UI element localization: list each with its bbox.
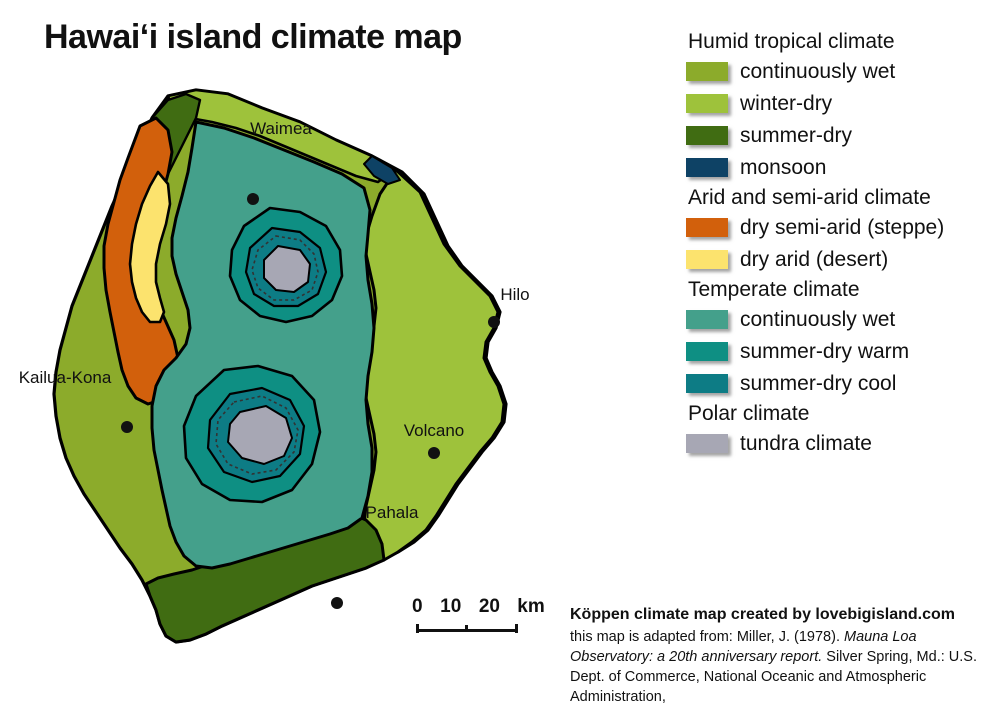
legend-swatch-dry-semi-arid-steppe [686, 218, 728, 237]
scale-unit: km [517, 596, 544, 618]
legend-item-humid-summer-dry[interactable]: summer-dry [686, 120, 996, 151]
legend-label-dry-arid-desert: dry arid (desert) [740, 249, 888, 271]
scale-bar-labels: 0 10 20 km [412, 596, 545, 618]
scale-bar: 0 10 20 km [412, 596, 557, 644]
legend-swatch-temperate-continuously-wet [686, 310, 728, 329]
legend-swatch-polar-tundra [686, 434, 728, 453]
legend-group-title-arid: Arid and semi-arid climate [688, 184, 996, 211]
zone-polar-tundra-mauna-kea [264, 246, 310, 292]
scale-tick-20: 20 [479, 596, 500, 618]
scale-bar-tick-end [515, 624, 518, 633]
attribution-title: Köppen climate map created by lovebigisl… [570, 604, 995, 625]
city-label-waimea: Waimea [250, 119, 312, 138]
island-map-svg: Waimea Hilo Kailua-Kona Volcano Pahala [0, 60, 620, 680]
legend: Humid tropical climate continuously wet … [686, 28, 996, 460]
legend-item-temperate-summer-dry-cool[interactable]: summer-dry cool [686, 368, 996, 399]
legend-swatch-humid-monsoon [686, 158, 728, 177]
legend-label-temperate-summer-dry-warm: summer-dry warm [740, 341, 909, 363]
legend-group-title-polar: Polar climate [688, 400, 996, 427]
city-dot-volcano [428, 447, 440, 459]
legend-item-humid-monsoon[interactable]: monsoon [686, 152, 996, 183]
scale-tick-10: 10 [440, 596, 461, 618]
legend-swatch-humid-winter-dry [686, 94, 728, 113]
legend-item-humid-continuously-wet[interactable]: continuously wet [686, 56, 996, 87]
legend-item-polar-tundra[interactable]: tundra climate [686, 428, 996, 459]
legend-swatch-humid-continuously-wet [686, 62, 728, 81]
legend-swatch-dry-arid-desert [686, 250, 728, 269]
city-label-pahala: Pahala [366, 503, 419, 522]
legend-label-humid-summer-dry: summer-dry [740, 125, 852, 147]
legend-item-humid-winter-dry[interactable]: winter-dry [686, 88, 996, 119]
legend-label-humid-monsoon: monsoon [740, 157, 826, 179]
legend-swatch-humid-summer-dry [686, 126, 728, 145]
city-label-hilo: Hilo [500, 285, 529, 304]
zone-humid-winter-dry-east [364, 170, 504, 560]
city-dot-kailua-kona [121, 421, 133, 433]
legend-label-humid-continuously-wet: continuously wet [740, 61, 895, 83]
scale-bar-tick-start [416, 624, 419, 633]
scale-tick-0: 0 [412, 596, 423, 618]
legend-label-temperate-summer-dry-cool: summer-dry cool [740, 373, 896, 395]
attribution-source-plain-1: this map is adapted from: Miller, J. (19… [570, 629, 844, 645]
scale-bar-ruler [416, 624, 518, 634]
city-dot-hilo [488, 316, 500, 328]
legend-label-dry-semi-arid-steppe: dry semi-arid (steppe) [740, 217, 944, 239]
legend-label-polar-tundra: tundra climate [740, 433, 872, 455]
legend-item-dry-semi-arid-steppe[interactable]: dry semi-arid (steppe) [686, 212, 996, 243]
legend-group-title-temperate: Temperate climate [688, 276, 996, 303]
city-label-kailua-kona: Kailua-Kona [19, 368, 112, 387]
legend-item-dry-arid-desert[interactable]: dry arid (desert) [686, 244, 996, 275]
legend-label-humid-winter-dry: winter-dry [740, 93, 832, 115]
attribution-source-italic-2: 20th anniversary report. [669, 649, 822, 665]
legend-swatch-temperate-summer-dry-warm [686, 342, 728, 361]
attribution: Köppen climate map created by lovebigisl… [570, 604, 995, 707]
city-label-volcano: Volcano [404, 421, 465, 440]
city-dot-waimea [247, 193, 259, 205]
legend-swatch-temperate-summer-dry-cool [686, 374, 728, 393]
legend-label-temperate-continuously-wet: continuously wet [740, 309, 895, 331]
attribution-source: this map is adapted from: Miller, J. (19… [570, 627, 995, 707]
city-dot-pahala [331, 597, 343, 609]
legend-item-temperate-continuously-wet[interactable]: continuously wet [686, 304, 996, 335]
page-title: Hawaiʻi island climate map [44, 18, 462, 57]
legend-item-temperate-summer-dry-warm[interactable]: summer-dry warm [686, 336, 996, 367]
climate-map-figure: Waimea Hilo Kailua-Kona Volcano Pahala [0, 60, 620, 680]
legend-group-title-humid-tropical: Humid tropical climate [688, 28, 996, 55]
scale-bar-tick-mid [465, 625, 468, 632]
